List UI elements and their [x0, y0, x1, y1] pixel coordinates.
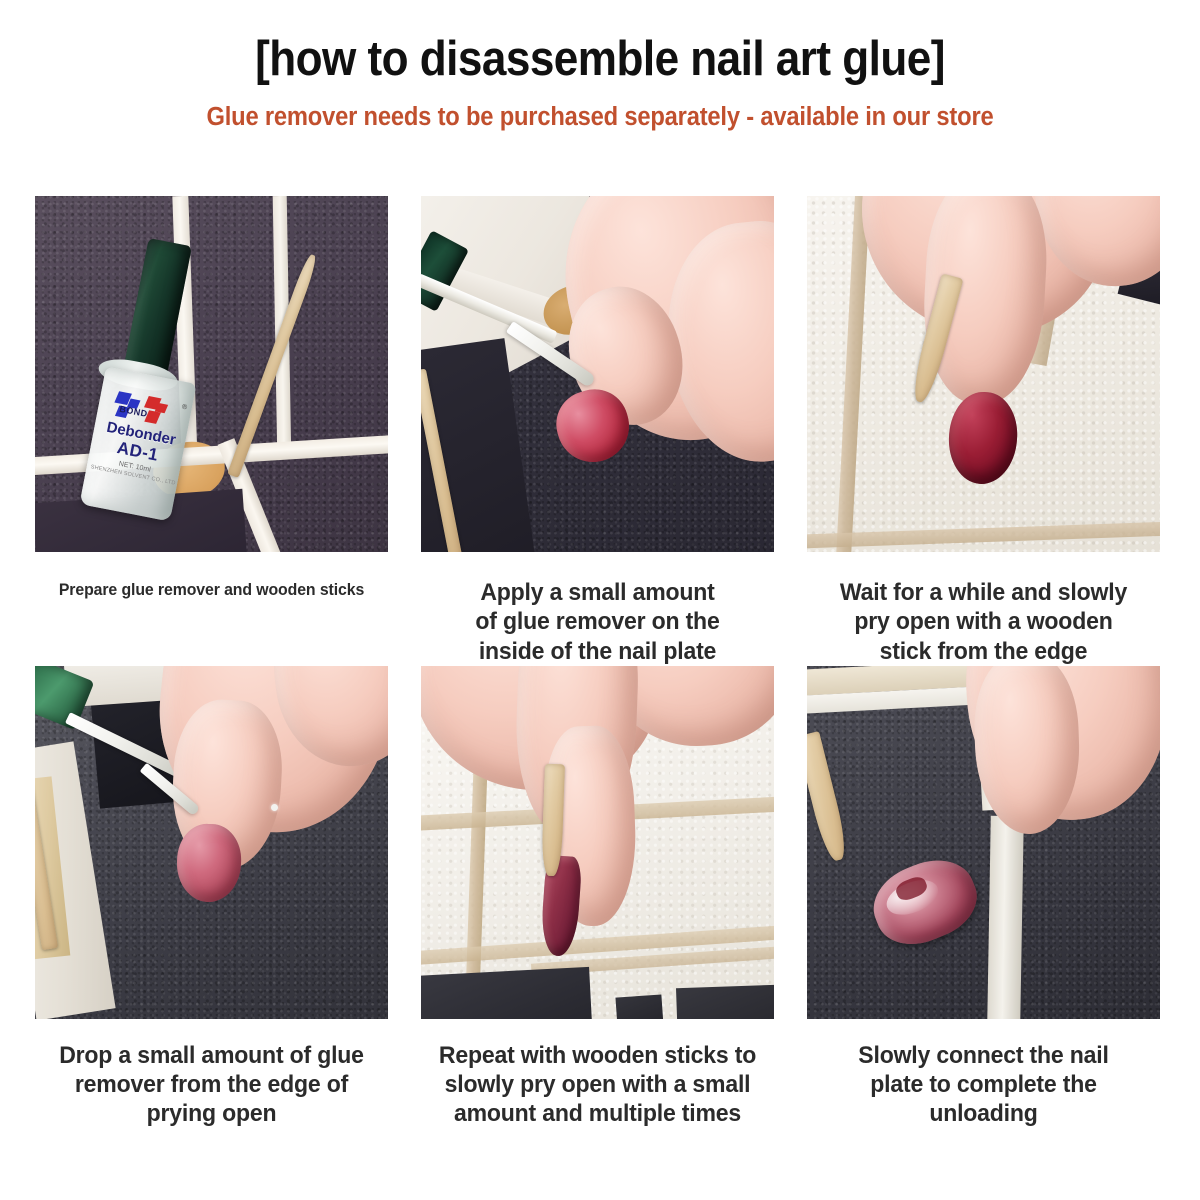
photo-drop-remover-from-edge: [35, 666, 388, 1019]
step-card-4: Drop a small amount of glue remover from…: [35, 666, 388, 1129]
white-stripe-vertical: [987, 816, 1024, 1019]
dark-leather-patch-left: [421, 967, 593, 1019]
step-card-3: Wait for a while and slowly pry open wit…: [807, 196, 1160, 666]
highlight-speck: [271, 804, 278, 811]
step-caption-4: Drop a small amount of glue remover from…: [42, 1019, 381, 1129]
step-card-1: BOND ® Debonder AD-1 NET: 10ml SHENZHEN …: [35, 196, 388, 666]
dark-leather-patch-mid: [615, 994, 664, 1019]
registered-trademark-icon: ®: [181, 404, 187, 412]
header: [how to disassemble nail art glue] Glue …: [0, 0, 1200, 132]
steps-grid: BOND ® Debonder AD-1 NET: 10ml SHENZHEN …: [35, 196, 1165, 1129]
step-caption-3: Wait for a while and slowly pry open wit…: [814, 552, 1153, 666]
dark-leather-patch-right: [676, 984, 774, 1019]
page-title: [how to disassemble nail art glue]: [60, 34, 1140, 85]
photo-pry-open-with-wooden-stick: [807, 196, 1160, 552]
photo-nail-plate-removed-complete: [807, 666, 1160, 1019]
photo-repeat-pry-open-multiple-times: [421, 666, 774, 1019]
step-card-6: Slowly connect the nail plate to complet…: [807, 666, 1160, 1129]
step-caption-5: Repeat with wooden sticks to slowly pry …: [428, 1019, 767, 1129]
step-card-5: Repeat with wooden sticks to slowly pry …: [421, 666, 774, 1129]
page-subtitle: Glue remover needs to be purchased separ…: [42, 103, 1158, 132]
photo-prepare-glue-remover-and-sticks: BOND ® Debonder AD-1 NET: 10ml SHENZHEN …: [35, 196, 388, 552]
step-card-2: Apply a small amount of glue remover on …: [421, 196, 774, 666]
photo-apply-glue-remover-inside-nail-plate: [421, 196, 774, 552]
step-caption-2: Apply a small amount of glue remover on …: [428, 552, 767, 666]
step-caption-1: Prepare glue remover and wooden sticks: [42, 552, 381, 600]
infographic-page: [how to disassemble nail art glue] Glue …: [0, 0, 1200, 1200]
step-caption-6: Slowly connect the nail plate to complet…: [814, 1019, 1153, 1129]
